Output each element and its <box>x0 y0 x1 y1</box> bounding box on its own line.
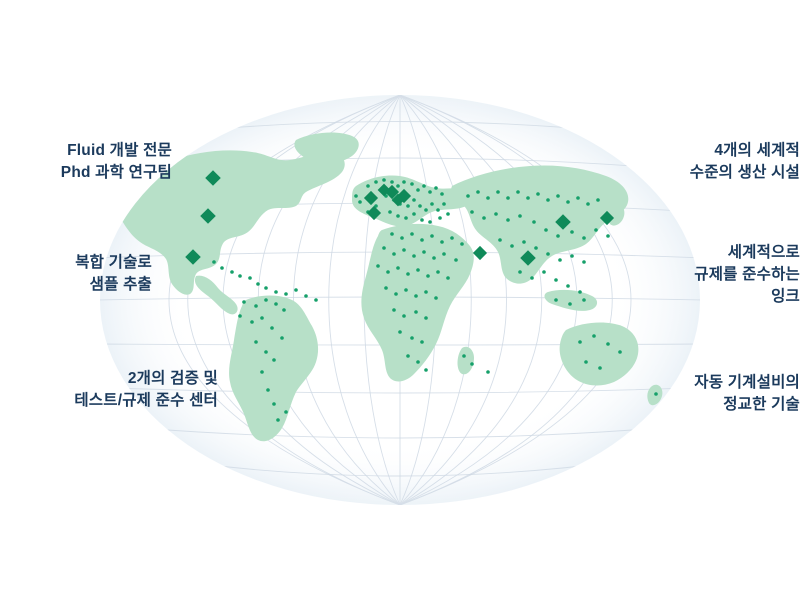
callout-extraction-line-2: 샘플 추출 <box>0 274 152 296</box>
callout-automated-machinery: 자동 기계설비의 정교한 기술 <box>628 372 800 416</box>
callout-research-line-2: Phd 과학 연구팀 <box>0 162 172 184</box>
callout-ink-line-2: 규제를 준수하는 <box>610 264 800 286</box>
callout-facilities-line-1: 4개의 세계적 <box>628 140 800 162</box>
callout-testing-line-1: 2개의 검증 및 <box>0 368 218 390</box>
callout-research-team: Fluid 개발 전문 Phd 과학 연구팀 <box>0 140 172 184</box>
callout-research-line-1: Fluid 개발 전문 <box>0 140 172 162</box>
callout-compliant-ink: 세계적으로 규제를 준수하는 잉크 <box>610 242 800 308</box>
callout-machinery-line-2: 정교한 기술 <box>628 394 800 416</box>
callout-ink-line-3: 잉크 <box>610 286 800 308</box>
callout-facilities-line-2: 수준의 생산 시설 <box>628 162 800 184</box>
callout-machinery-line-1: 자동 기계설비의 <box>628 372 800 394</box>
infographic-root: Fluid 개발 전문 Phd 과학 연구팀 복합 기술로 샘플 추출 2개의 … <box>0 0 800 600</box>
callout-testing-line-2: 테스트/규제 준수 센터 <box>0 390 218 412</box>
callout-sample-extraction: 복합 기술로 샘플 추출 <box>0 252 152 296</box>
callout-ink-line-1: 세계적으로 <box>610 242 800 264</box>
callout-extraction-line-1: 복합 기술로 <box>0 252 152 274</box>
callout-testing-compliance: 2개의 검증 및 테스트/규제 준수 센터 <box>0 368 218 412</box>
callout-production-facilities: 4개의 세계적 수준의 생산 시설 <box>628 140 800 184</box>
